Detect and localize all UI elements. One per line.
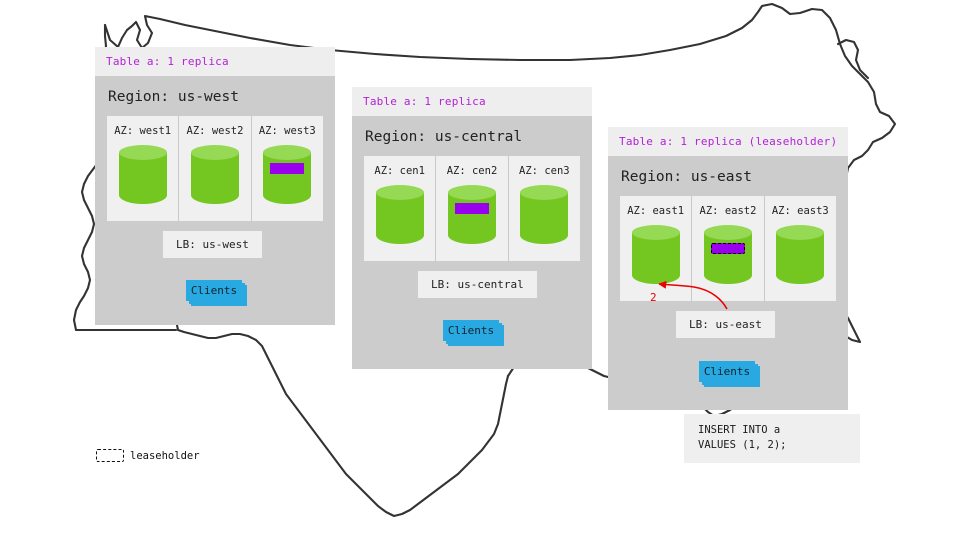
node-cylinder-cen2[interactable] [448,185,496,249]
az-label-west2: AZ: west2 [187,125,244,137]
clients-stack-us-central[interactable]: Clients [443,320,503,344]
cylinder-top [263,145,311,160]
az-cell-west3[interactable]: AZ: west3 [252,116,323,221]
node-cylinder-east3[interactable] [776,225,824,289]
az-row-us-west: AZ: west1 AZ: west2 AZ: west3 [107,116,323,221]
cylinder-top [776,225,824,240]
region-title-us-central: Region: us-central [352,116,592,156]
replica-marker-cen2 [455,203,489,214]
replica-marker-east2-leaseholder [711,243,745,254]
clients-stack-us-west[interactable]: Clients [186,280,246,304]
az-row-us-east: AZ: east1 AZ: east2 AZ: east3 [620,196,836,301]
az-label-east1: AZ: east1 [627,205,684,217]
region-title-us-west: Region: us-west [95,76,335,116]
clients-label-us-central: Clients [443,320,499,341]
dashed-rectangle-icon [96,449,124,462]
cylinder-top [119,145,167,160]
cylinder-top [704,225,752,240]
az-cell-east1[interactable]: AZ: east1 [620,196,692,301]
az-cell-cen2[interactable]: AZ: cen2 [436,156,508,261]
az-label-cen1: AZ: cen1 [374,165,425,177]
az-cell-cen1[interactable]: AZ: cen1 [364,156,436,261]
cylinder-top [520,185,568,200]
legend-leaseholder: leaseholder [96,449,200,462]
az-label-west1: AZ: west1 [114,125,171,137]
az-label-cen2: AZ: cen2 [447,165,498,177]
clients-stack-us-east[interactable]: Clients [699,361,759,385]
node-cylinder-cen1[interactable] [376,185,424,249]
az-cell-east2[interactable]: AZ: east2 [692,196,764,301]
node-cylinder-west2[interactable] [191,145,239,209]
az-cell-east3[interactable]: AZ: east3 [765,196,836,301]
node-cylinder-east1[interactable] [632,225,680,289]
az-label-east2: AZ: east2 [700,205,757,217]
clients-label-us-east: Clients [699,361,755,382]
node-cylinder-west1[interactable] [119,145,167,209]
node-cylinder-east2[interactable] [704,225,752,289]
az-cell-west1[interactable]: AZ: west1 [107,116,179,221]
node-cylinder-cen3[interactable] [520,185,568,249]
annotation-step-number-2: 2 [650,291,657,304]
region-title-us-east: Region: us-east [608,156,848,196]
legend-label: leaseholder [130,450,200,462]
node-cylinder-west3[interactable] [263,145,311,209]
diagram-canvas: Table a: 1 replica Region: us-west AZ: w… [0,0,960,540]
az-row-us-central: AZ: cen1 AZ: cen2 AZ: cen3 [364,156,580,261]
panel-header-us-west: Table a: 1 replica [95,47,335,76]
az-label-east3: AZ: east3 [772,205,829,217]
cylinder-top [191,145,239,160]
panel-header-us-central: Table a: 1 replica [352,87,592,116]
az-label-cen3: AZ: cen3 [519,165,570,177]
load-balancer-us-west[interactable]: LB: us-west [163,231,262,258]
load-balancer-us-central[interactable]: LB: us-central [418,271,537,298]
replica-marker-west3 [270,163,304,174]
load-balancer-us-east[interactable]: LB: us-east [676,311,775,338]
cylinder-top [376,185,424,200]
panel-header-us-east: Table a: 1 replica (leaseholder) [608,127,848,156]
sql-statement-box: INSERT INTO a VALUES (1, 2); [684,414,860,463]
az-label-west3: AZ: west3 [259,125,316,137]
clients-label-us-west: Clients [186,280,242,301]
az-cell-cen3[interactable]: AZ: cen3 [509,156,580,261]
cylinder-top [448,185,496,200]
cylinder-top [632,225,680,240]
az-cell-west2[interactable]: AZ: west2 [179,116,251,221]
